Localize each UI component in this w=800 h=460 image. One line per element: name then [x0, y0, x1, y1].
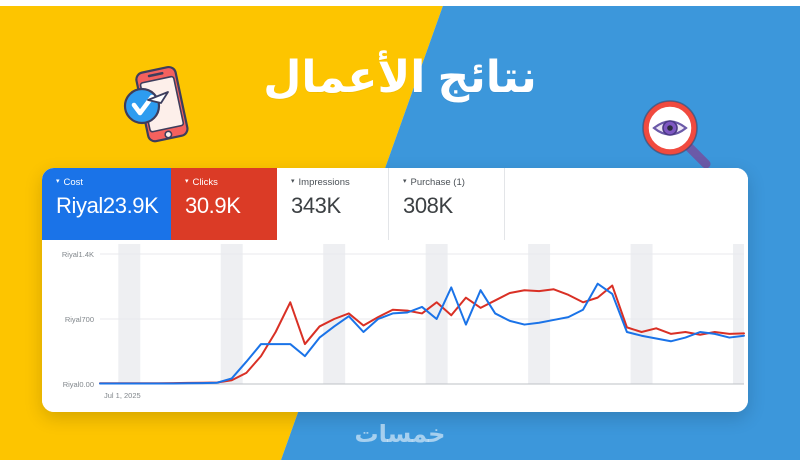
watermark: خمسات [0, 420, 800, 449]
chart-area[interactable]: Riyal0.00Riyal700Riyal1.4KJul 1, 2025 [42, 240, 748, 412]
page-title: نتائج الأعمال [0, 56, 800, 100]
line-chart[interactable]: Riyal0.00Riyal700Riyal1.4KJul 1, 2025 [42, 240, 748, 412]
chart-shaded-band [528, 244, 550, 384]
top-white-strip [0, 0, 800, 6]
metric-cards-row: ▾ Cost Riyal23.9K ▾ Clicks 30.9K ▾ Impre… [42, 168, 748, 240]
metric-card-impressions-label: Impressions [299, 178, 350, 188]
metric-card-purchase[interactable]: ▾ Purchase (1) 308K [389, 168, 505, 240]
chart-shaded-band [426, 244, 448, 384]
metric-card-impressions-header: ▾ Impressions [291, 178, 388, 188]
chevron-down-icon[interactable]: ▾ [56, 178, 60, 185]
magnifier-eye-icon [632, 92, 720, 180]
metric-card-cost-value: Riyal23.9K [56, 194, 171, 217]
metric-card-clicks-value: 30.9K [185, 194, 277, 217]
chart-x-axis-label: Jul 1, 2025 [104, 391, 141, 400]
chart-shaded-band [323, 244, 345, 384]
chart-shaded-band [221, 244, 243, 384]
metric-card-cost-label: Cost [64, 178, 84, 188]
chevron-down-icon[interactable]: ▾ [185, 178, 189, 185]
chart-y-axis-label: Riyal1.4K [62, 250, 94, 259]
metric-card-clicks-header: ▾ Clicks [185, 178, 277, 188]
metric-card-clicks-label: Clicks [193, 178, 218, 188]
chevron-down-icon[interactable]: ▾ [291, 178, 295, 185]
chevron-down-icon[interactable]: ▾ [403, 178, 407, 185]
metric-card-purchase-header: ▾ Purchase (1) [403, 178, 504, 188]
metric-card-cost-header: ▾ Cost [56, 178, 171, 188]
metric-card-cost[interactable]: ▾ Cost Riyal23.9K [42, 168, 171, 240]
metric-card-clicks[interactable]: ▾ Clicks 30.9K [171, 168, 277, 240]
chart-shaded-band [118, 244, 140, 384]
chart-shaded-band [733, 244, 744, 384]
metric-card-impressions[interactable]: ▾ Impressions 343K [277, 168, 389, 240]
chart-y-axis-label: Riyal0.00 [63, 380, 94, 389]
chart-y-axis-label: Riyal700 [65, 315, 94, 324]
metric-card-impressions-value: 343K [291, 194, 388, 217]
poster-canvas: نتائج الأعمال ▾ Cost Riyal23.9K ▾ Clicks… [0, 0, 800, 460]
metric-card-empty-slot[interactable] [505, 168, 748, 240]
metric-card-purchase-value: 308K [403, 194, 504, 217]
metric-card-purchase-label: Purchase (1) [411, 178, 465, 188]
chart-shaded-band [631, 244, 653, 384]
dashboard-panel: ▾ Cost Riyal23.9K ▾ Clicks 30.9K ▾ Impre… [42, 168, 748, 412]
